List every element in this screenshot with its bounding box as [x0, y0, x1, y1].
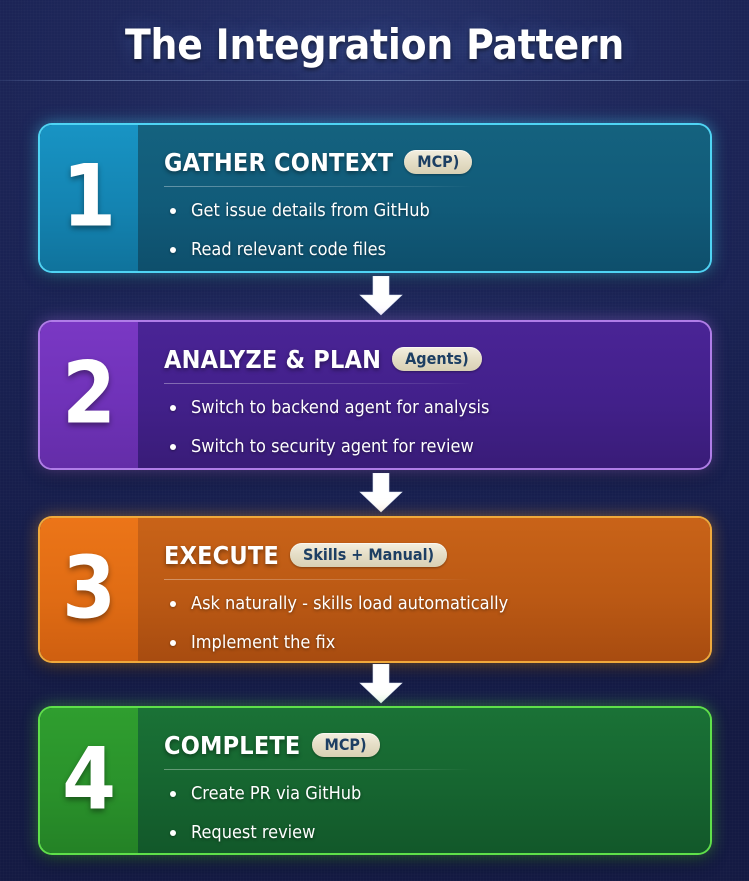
- bullet-text: Request review: [191, 822, 315, 843]
- step-title-divider-4: [164, 769, 472, 770]
- page-title: The Integration Pattern: [0, 20, 749, 69]
- step-card-1-body: 1 GATHER CONTEXT MCP) Get issue details …: [40, 125, 710, 271]
- step-badge-1: MCP): [404, 150, 472, 174]
- step-title-3: EXECUTE: [164, 541, 279, 570]
- step-number-4: 4: [40, 736, 138, 822]
- step-card-1[interactable]: 1 GATHER CONTEXT MCP) Get issue details …: [40, 125, 710, 271]
- step-badge-3: Skills + Manual): [290, 543, 447, 567]
- bullet-dot-icon: [170, 405, 176, 411]
- step-card-4-body: 4 COMPLETE MCP) Create PR via GitHub Req…: [40, 708, 710, 853]
- arrow-down-icon: [358, 664, 404, 704]
- step-content-1: GATHER CONTEXT MCP) Get issue details fr…: [138, 125, 710, 271]
- bullet-dot-icon: [170, 247, 176, 253]
- bullet-dot-icon: [170, 601, 176, 607]
- bullet-dot-icon: [170, 830, 176, 836]
- list-item: Get issue details from GitHub: [164, 200, 686, 222]
- step-card-3[interactable]: 3 EXECUTE Skills + Manual) Ask naturally…: [40, 518, 710, 661]
- step-title-divider-1: [164, 186, 472, 187]
- list-item: Read relevant code files: [164, 239, 686, 261]
- bullet-dot-icon: [170, 640, 176, 646]
- list-item: Implement the fix: [164, 632, 686, 654]
- step-number-2: 2: [40, 350, 138, 436]
- step-badge-2: Agents): [392, 347, 482, 371]
- step-content-4: COMPLETE MCP) Create PR via GitHub Reque…: [138, 708, 710, 853]
- header: The Integration Pattern: [0, 0, 749, 81]
- step-bullet-list-3: Ask naturally - skills load automaticall…: [164, 593, 686, 654]
- step-number-panel-4: 4: [40, 708, 138, 853]
- bullet-dot-icon: [170, 791, 176, 797]
- bullet-text: Read relevant code files: [191, 239, 386, 260]
- arrow-down-icon: [358, 276, 404, 316]
- list-item: Switch to security agent for review: [164, 436, 686, 458]
- step-title-divider-2: [164, 383, 472, 384]
- step-number-panel-1: 1: [40, 125, 138, 271]
- bullet-dot-icon: [170, 444, 176, 450]
- step-title-2: ANALYZE & PLAN: [164, 345, 381, 374]
- bullet-text: Switch to security agent for review: [191, 436, 474, 457]
- step-title-row-1: GATHER CONTEXT MCP): [164, 147, 686, 177]
- step-content-2: ANALYZE & PLAN Agents) Switch to backend…: [138, 322, 710, 468]
- bullet-text: Implement the fix: [191, 632, 335, 653]
- step-bullet-list-2: Switch to backend agent for analysis Swi…: [164, 397, 686, 458]
- step-title-4: COMPLETE: [164, 731, 301, 760]
- step-title-row-4: COMPLETE MCP): [164, 730, 686, 760]
- step-bullet-list-1: Get issue details from GitHub Read relev…: [164, 200, 686, 261]
- step-number-panel-2: 2: [40, 322, 138, 468]
- header-divider: [0, 80, 749, 81]
- step-bullet-list-4: Create PR via GitHub Request review: [164, 783, 686, 844]
- step-number-panel-3: 3: [40, 518, 138, 661]
- step-title-row-2: ANALYZE & PLAN Agents): [164, 344, 686, 374]
- slide-canvas: The Integration Pattern 1 GATHER CONTEXT…: [0, 0, 749, 881]
- list-item: Request review: [164, 822, 686, 844]
- bullet-dot-icon: [170, 208, 176, 214]
- step-card-4[interactable]: 4 COMPLETE MCP) Create PR via GitHub Req…: [40, 708, 710, 853]
- bullet-text: Get issue details from GitHub: [191, 200, 430, 221]
- list-item: Create PR via GitHub: [164, 783, 686, 805]
- step-number-3: 3: [40, 545, 138, 631]
- step-card-2-body: 2 ANALYZE & PLAN Agents) Switch to backe…: [40, 322, 710, 468]
- list-item: Ask naturally - skills load automaticall…: [164, 593, 686, 615]
- step-card-3-body: 3 EXECUTE Skills + Manual) Ask naturally…: [40, 518, 710, 661]
- step-number-1: 1: [40, 153, 138, 239]
- step-title-1: GATHER CONTEXT: [164, 148, 393, 177]
- step-badge-4: MCP): [312, 733, 380, 757]
- step-content-3: EXECUTE Skills + Manual) Ask naturally -…: [138, 518, 710, 661]
- bullet-text: Create PR via GitHub: [191, 783, 361, 804]
- arrow-down-icon: [358, 473, 404, 513]
- step-title-divider-3: [164, 579, 472, 580]
- bullet-text: Switch to backend agent for analysis: [191, 397, 489, 418]
- list-item: Switch to backend agent for analysis: [164, 397, 686, 419]
- step-title-row-3: EXECUTE Skills + Manual): [164, 540, 686, 570]
- step-card-2[interactable]: 2 ANALYZE & PLAN Agents) Switch to backe…: [40, 322, 710, 468]
- bullet-text: Ask naturally - skills load automaticall…: [191, 593, 508, 614]
